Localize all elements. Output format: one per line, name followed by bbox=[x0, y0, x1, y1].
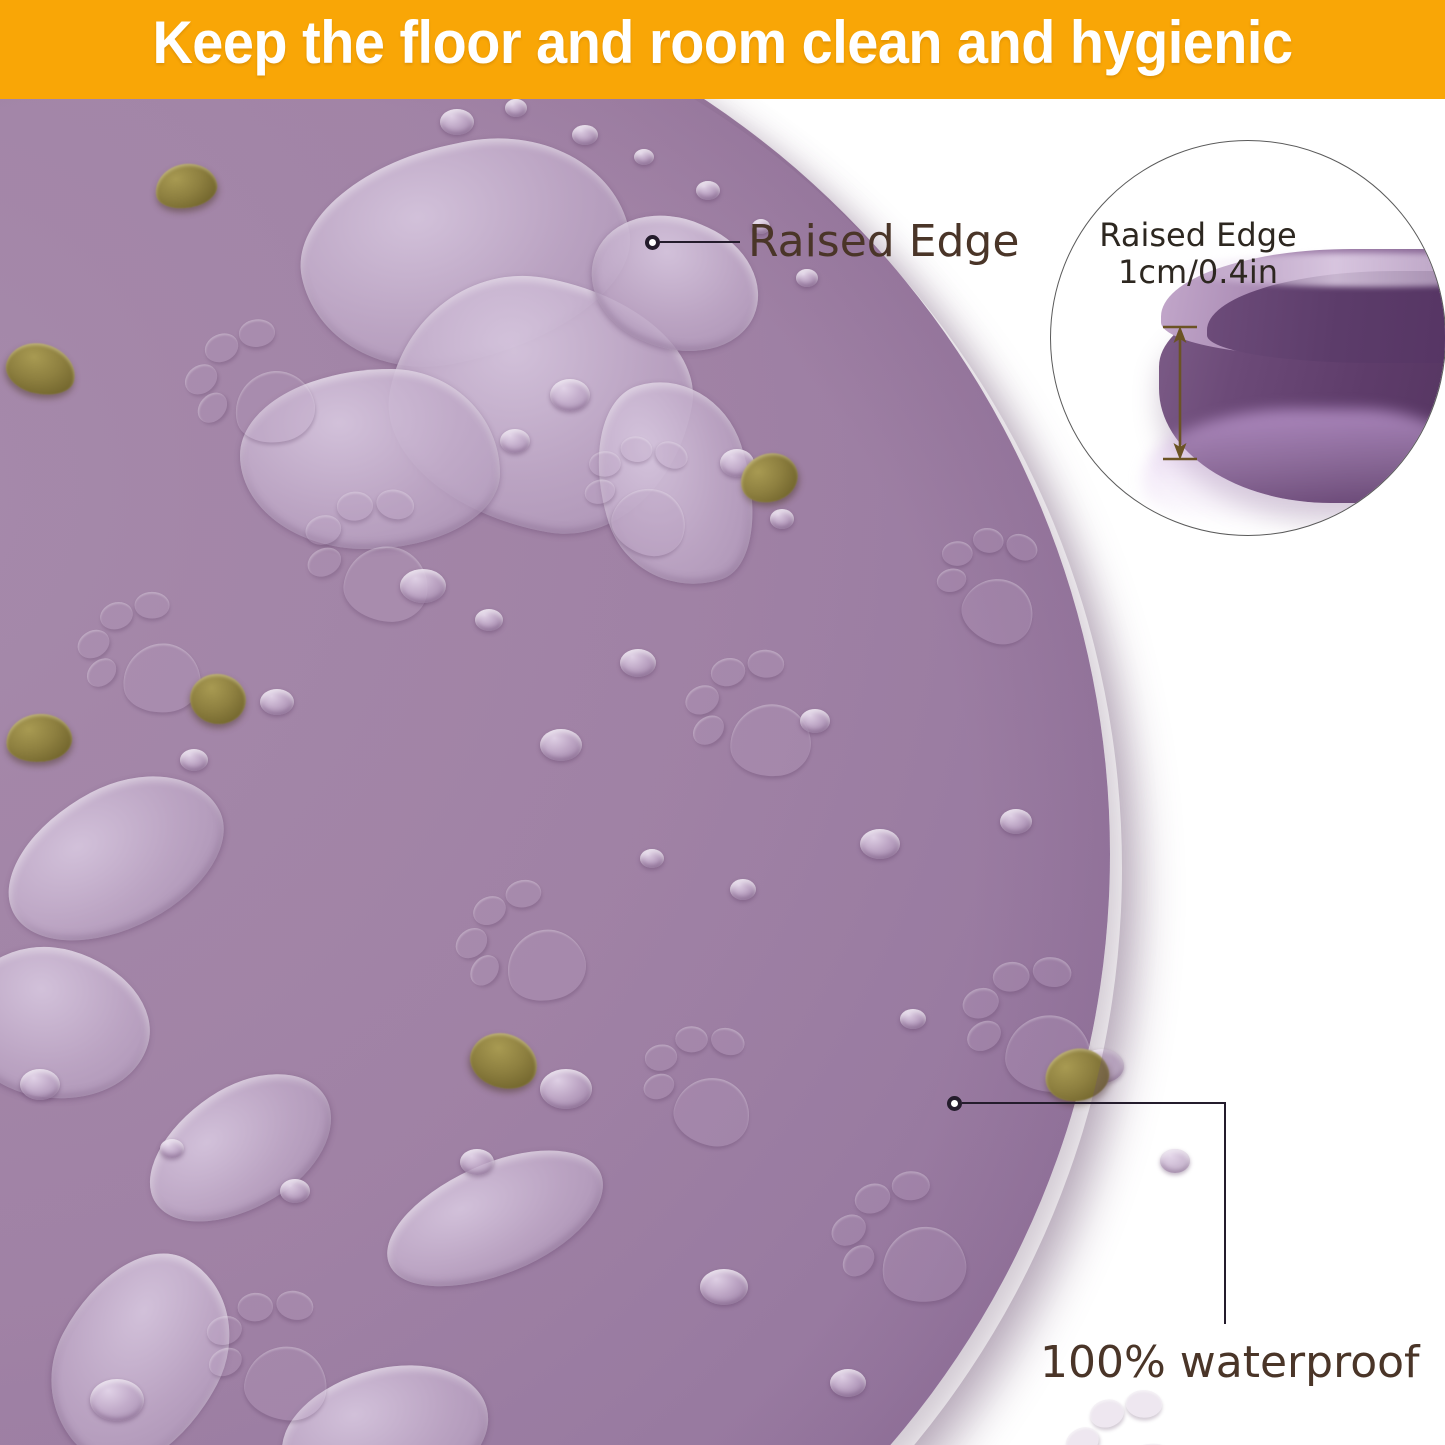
inset-label: Raised Edge 1cm/0.4in bbox=[1073, 217, 1323, 291]
header-banner: Keep the floor and room clean and hygien… bbox=[0, 0, 1445, 99]
marker-dot-waterproof bbox=[947, 1096, 962, 1111]
marker-dot-raised-edge bbox=[645, 235, 660, 250]
water-droplet bbox=[1160, 1149, 1190, 1173]
callout-label-raised-edge: Raised Edge bbox=[748, 216, 1019, 267]
raised-edge-detail-inset: Raised Edge 1cm/0.4in bbox=[1050, 140, 1445, 536]
inset-label-line2: 1cm/0.4in bbox=[1073, 254, 1323, 291]
leader-line-waterproof-horizontal bbox=[962, 1102, 1226, 1104]
banner-headline: Keep the floor and room clean and hygien… bbox=[51, 8, 1395, 77]
dimension-arrow-icon bbox=[1159, 323, 1201, 463]
mat-drop-shadow bbox=[0, 99, 1122, 1445]
leader-line-raised-edge bbox=[660, 241, 740, 243]
leader-line-waterproof-vertical bbox=[1224, 1102, 1226, 1324]
callout-label-waterproof: 100% waterproof bbox=[1040, 1337, 1420, 1388]
inset-label-line1: Raised Edge bbox=[1073, 217, 1323, 254]
product-feature-image: Keep the floor and room clean and hygien… bbox=[0, 0, 1445, 1445]
